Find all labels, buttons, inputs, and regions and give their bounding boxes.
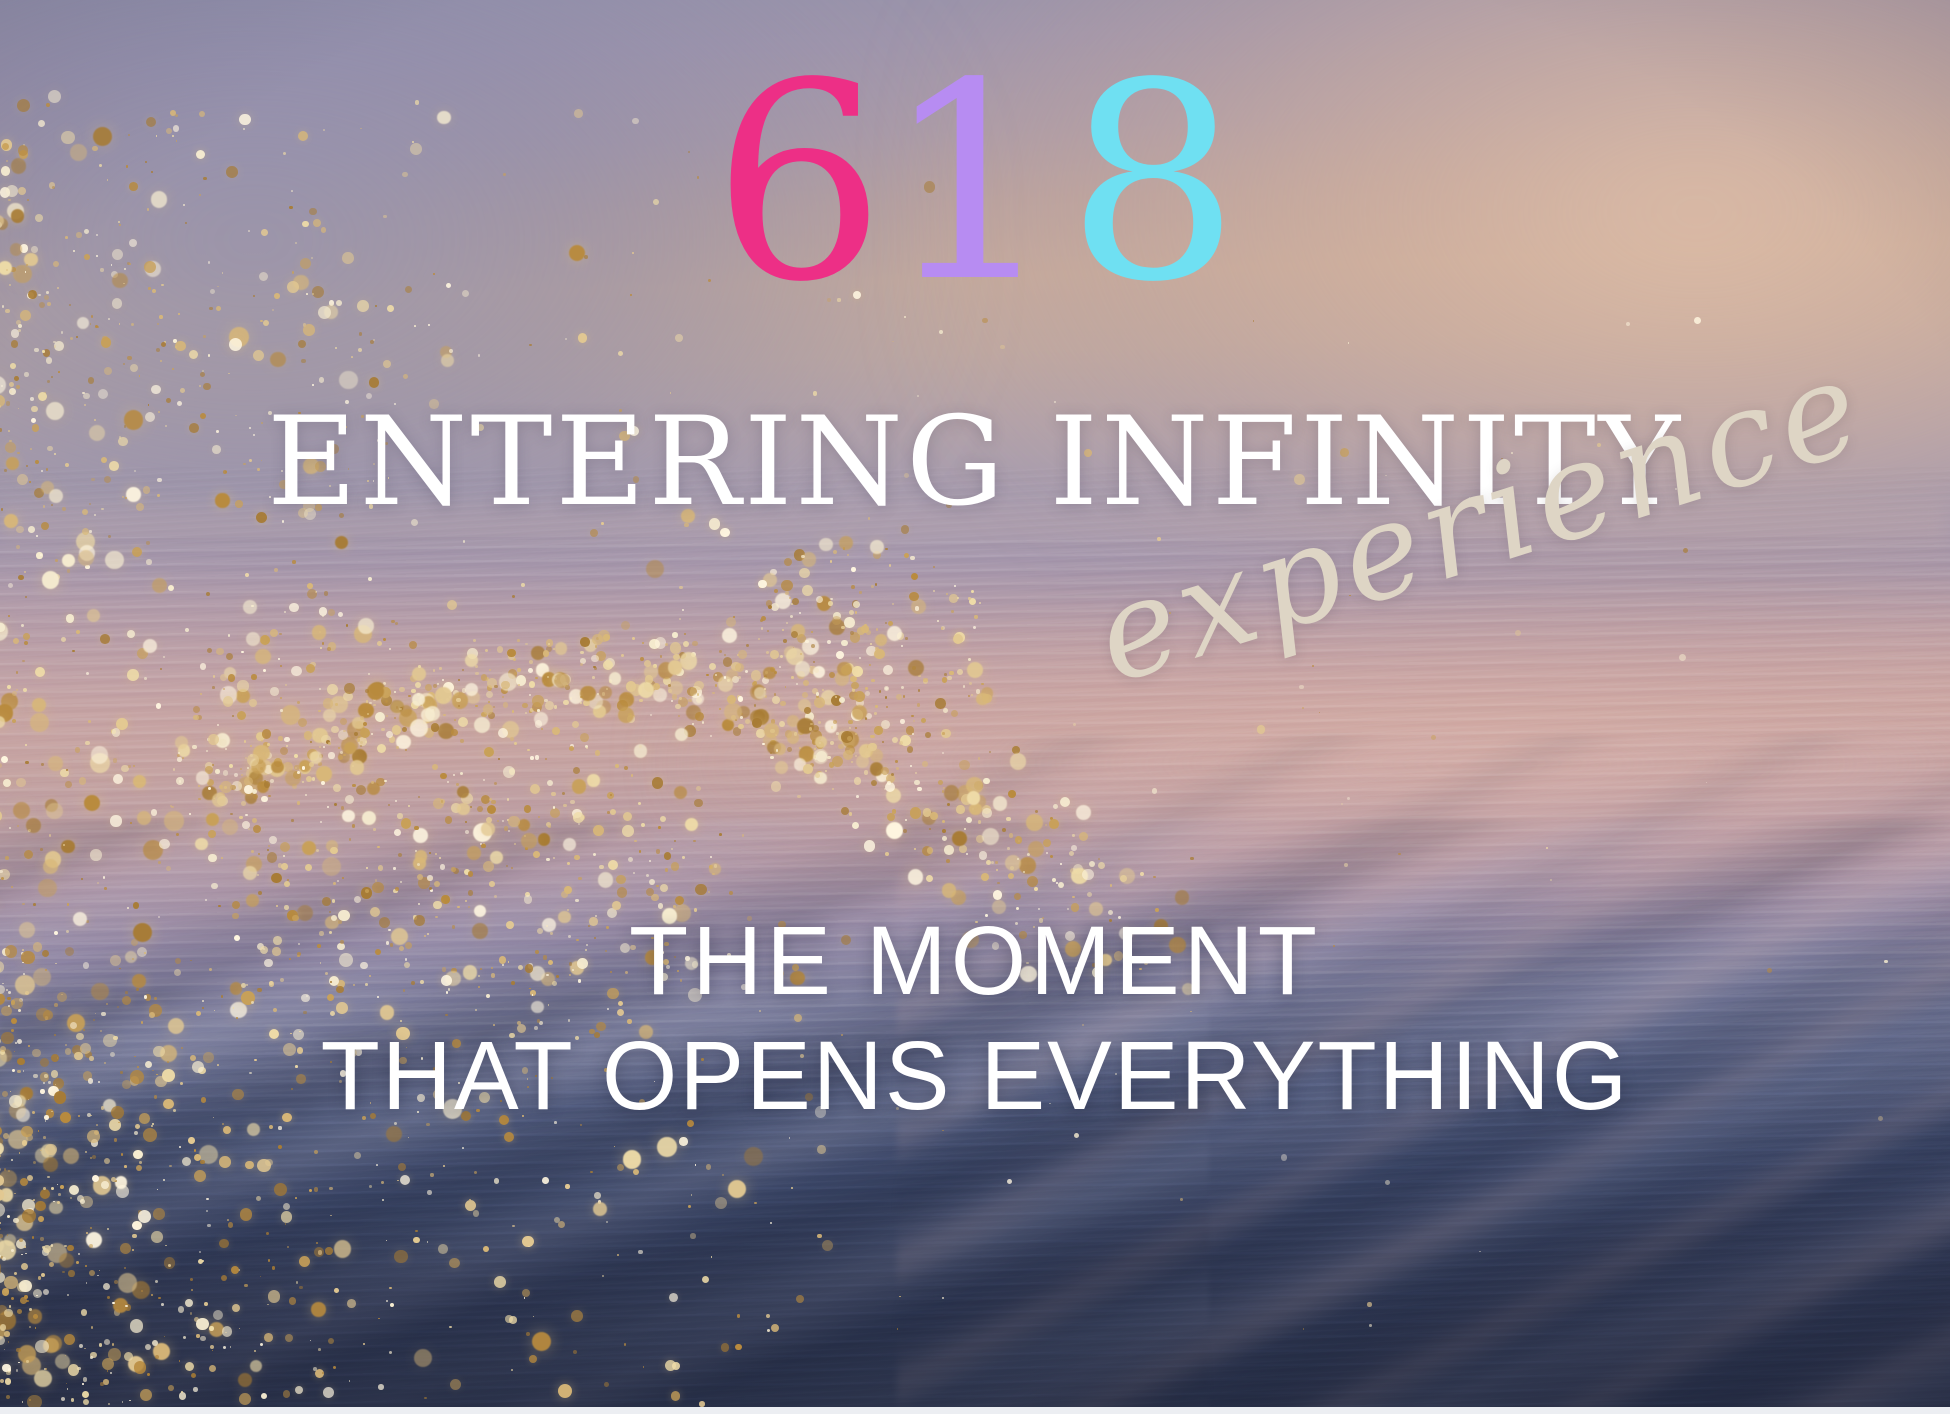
bottom-edge-strip [0, 1407, 1950, 1414]
digit-one: 1 [883, 26, 1066, 342]
subheadline-line-2: THAT OPENS EVERYTHING [0, 1025, 1950, 1128]
subheadline-line-1: THE MOMENT [0, 910, 1950, 1013]
big-number-618: 618 [0, 48, 1950, 320]
digit-eight: 8 [1067, 26, 1238, 342]
subheadline-block: THE MOMENT THAT OPENS EVERYTHING [0, 910, 1950, 1128]
poster-text-layer: 618 ENTERING INFINITY experience THE MOM… [0, 0, 1950, 1414]
poster-canvas: 618 ENTERING INFINITY experience THE MOM… [0, 0, 1950, 1414]
digit-six: 6 [712, 26, 883, 342]
